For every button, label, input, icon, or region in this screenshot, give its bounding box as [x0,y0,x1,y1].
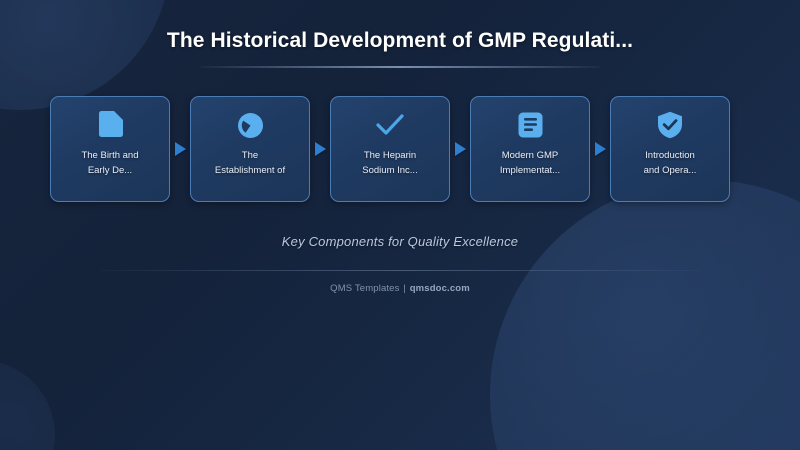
arrow-connector-3 [450,96,470,202]
card-label-line1: The Birth and [81,149,138,164]
checkmark-icon [375,110,405,140]
card-wrapper-2: The Establishment of [190,96,330,202]
title-block: The Historical Development of GMP Regula… [0,28,800,68]
arrow-connector-2 [310,96,330,202]
timeline-cards-row: The Birth and Early De... The Est [50,96,750,202]
title-divider [200,66,600,68]
card-wrapper-5: Introduction and Opera... [610,96,750,202]
timeline-card-label-2: The Establishment of [208,149,292,178]
timeline-card-label-1: The Birth and Early De... [74,149,145,178]
card-label-line2: Establishment of [215,164,285,179]
card-wrapper-4: Modern GMP Implementat... [470,96,610,202]
slide-subtitle: Key Components for Quality Excellence [0,234,800,249]
clock-pie-icon [235,110,265,140]
decorative-circle-bottom-right [490,180,800,450]
card-label-line2: Implementat... [500,164,560,179]
footer-brand: qmsdoc.com [410,283,470,294]
card-label-line2: Early De... [81,164,138,179]
timeline-card-1[interactable]: The Birth and Early De... [50,96,170,202]
decorative-circle-bottom-left [0,360,55,450]
timeline-card-3[interactable]: The Heparin Sodium Inc... [330,96,450,202]
shield-check-icon [655,110,685,140]
arrow-right-icon [455,142,466,156]
arrow-right-icon [175,142,186,156]
arrow-connector-1 [170,96,190,202]
card-label-line1: The [215,149,285,164]
page-title: The Historical Development of GMP Regula… [0,28,800,54]
timeline-card-4[interactable]: Modern GMP Implementat... [470,96,590,202]
timeline-card-label-5: Introduction and Opera... [637,149,704,178]
timeline-card-label-3: The Heparin Sodium Inc... [355,149,424,178]
card-label-line1: Modern GMP [500,149,560,164]
timeline-card-5[interactable]: Introduction and Opera... [610,96,730,202]
document-lines-icon [515,110,545,140]
footer-source: QMS Templates [330,283,399,294]
arrow-connector-4 [590,96,610,202]
footer-divider [100,270,700,271]
timeline-card-label-4: Modern GMP Implementat... [493,149,567,178]
card-wrapper-3: The Heparin Sodium Inc... [330,96,470,202]
slide-canvas: The Historical Development of GMP Regula… [0,0,800,450]
card-label-line1: Introduction [644,149,697,164]
card-label-line2: Sodium Inc... [362,164,417,179]
timeline-card-2[interactable]: The Establishment of [190,96,310,202]
arrow-right-icon [595,142,606,156]
footer: QMS Templates | qmsdoc.com [0,283,800,294]
document-icon [95,110,125,140]
footer-separator: | [402,283,407,294]
arrow-right-icon [315,142,326,156]
card-wrapper-1: The Birth and Early De... [50,96,190,202]
card-label-line1: The Heparin [362,149,417,164]
card-label-line2: and Opera... [644,164,697,179]
